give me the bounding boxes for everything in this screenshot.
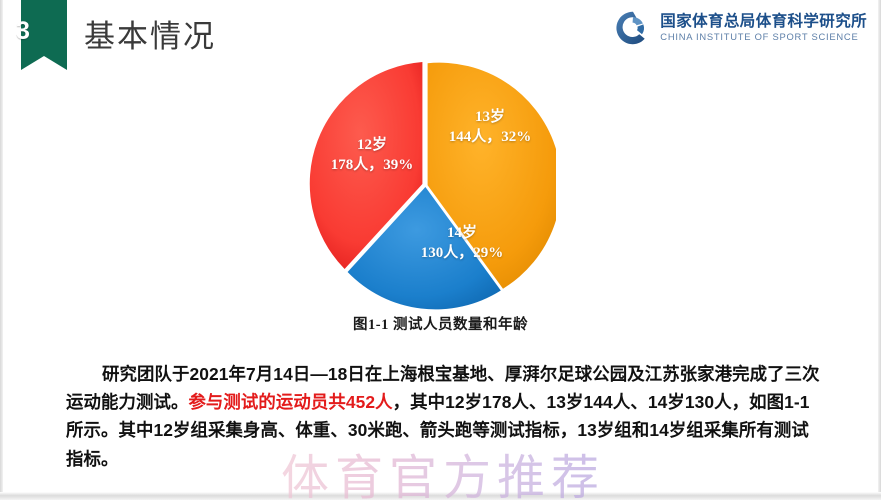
body-highlight-total: 参与测试的运动员共452人: [188, 392, 392, 412]
page-title: 基本情况: [84, 11, 216, 56]
pie-chart-svg: [298, 55, 556, 313]
pie-chart: 12岁 178人，39% 13岁 144人，32% 14岁 130人，29%: [298, 55, 556, 313]
sport-science-institute-logo-icon: [615, 10, 651, 46]
logo-name-en: CHINA INSTITUTE OF SPORT SCIENCE: [660, 32, 867, 42]
body-line1: 研究团队于2021年7月14日—18日在上海根宝基地、厚湃尔足球公园及江苏张家港: [102, 364, 732, 384]
body-line2-b: ，其中12岁178人、13岁144人、: [393, 392, 648, 412]
section-number: 3: [0, 0, 46, 62]
logo-text-block: 国家体育总局体育科学研究所 CHINA INSTITUTE OF SPORT S…: [660, 14, 867, 42]
logo-name-cn: 国家体育总局体育科学研究所: [660, 14, 867, 30]
institute-logo: 国家体育总局体育科学研究所 CHINA INSTITUTE OF SPORT S…: [615, 10, 867, 46]
slide-edge-bottom: [0, 492, 881, 500]
chart-caption: 图1-1 测试人员数量和年龄: [0, 313, 881, 334]
body-paragraph: 研究团队于2021年7月14日—18日在上海根宝基地、厚湃尔足球公园及江苏张家港…: [66, 360, 826, 473]
slide-canvas: 3 基本情况 国家体育总局体育科学研究所 CHINA INSTITUTE OF …: [0, 0, 881, 500]
chart-area: 12岁 178人，39% 13岁 144人，32% 14岁 130人，29% 图…: [0, 55, 881, 320]
